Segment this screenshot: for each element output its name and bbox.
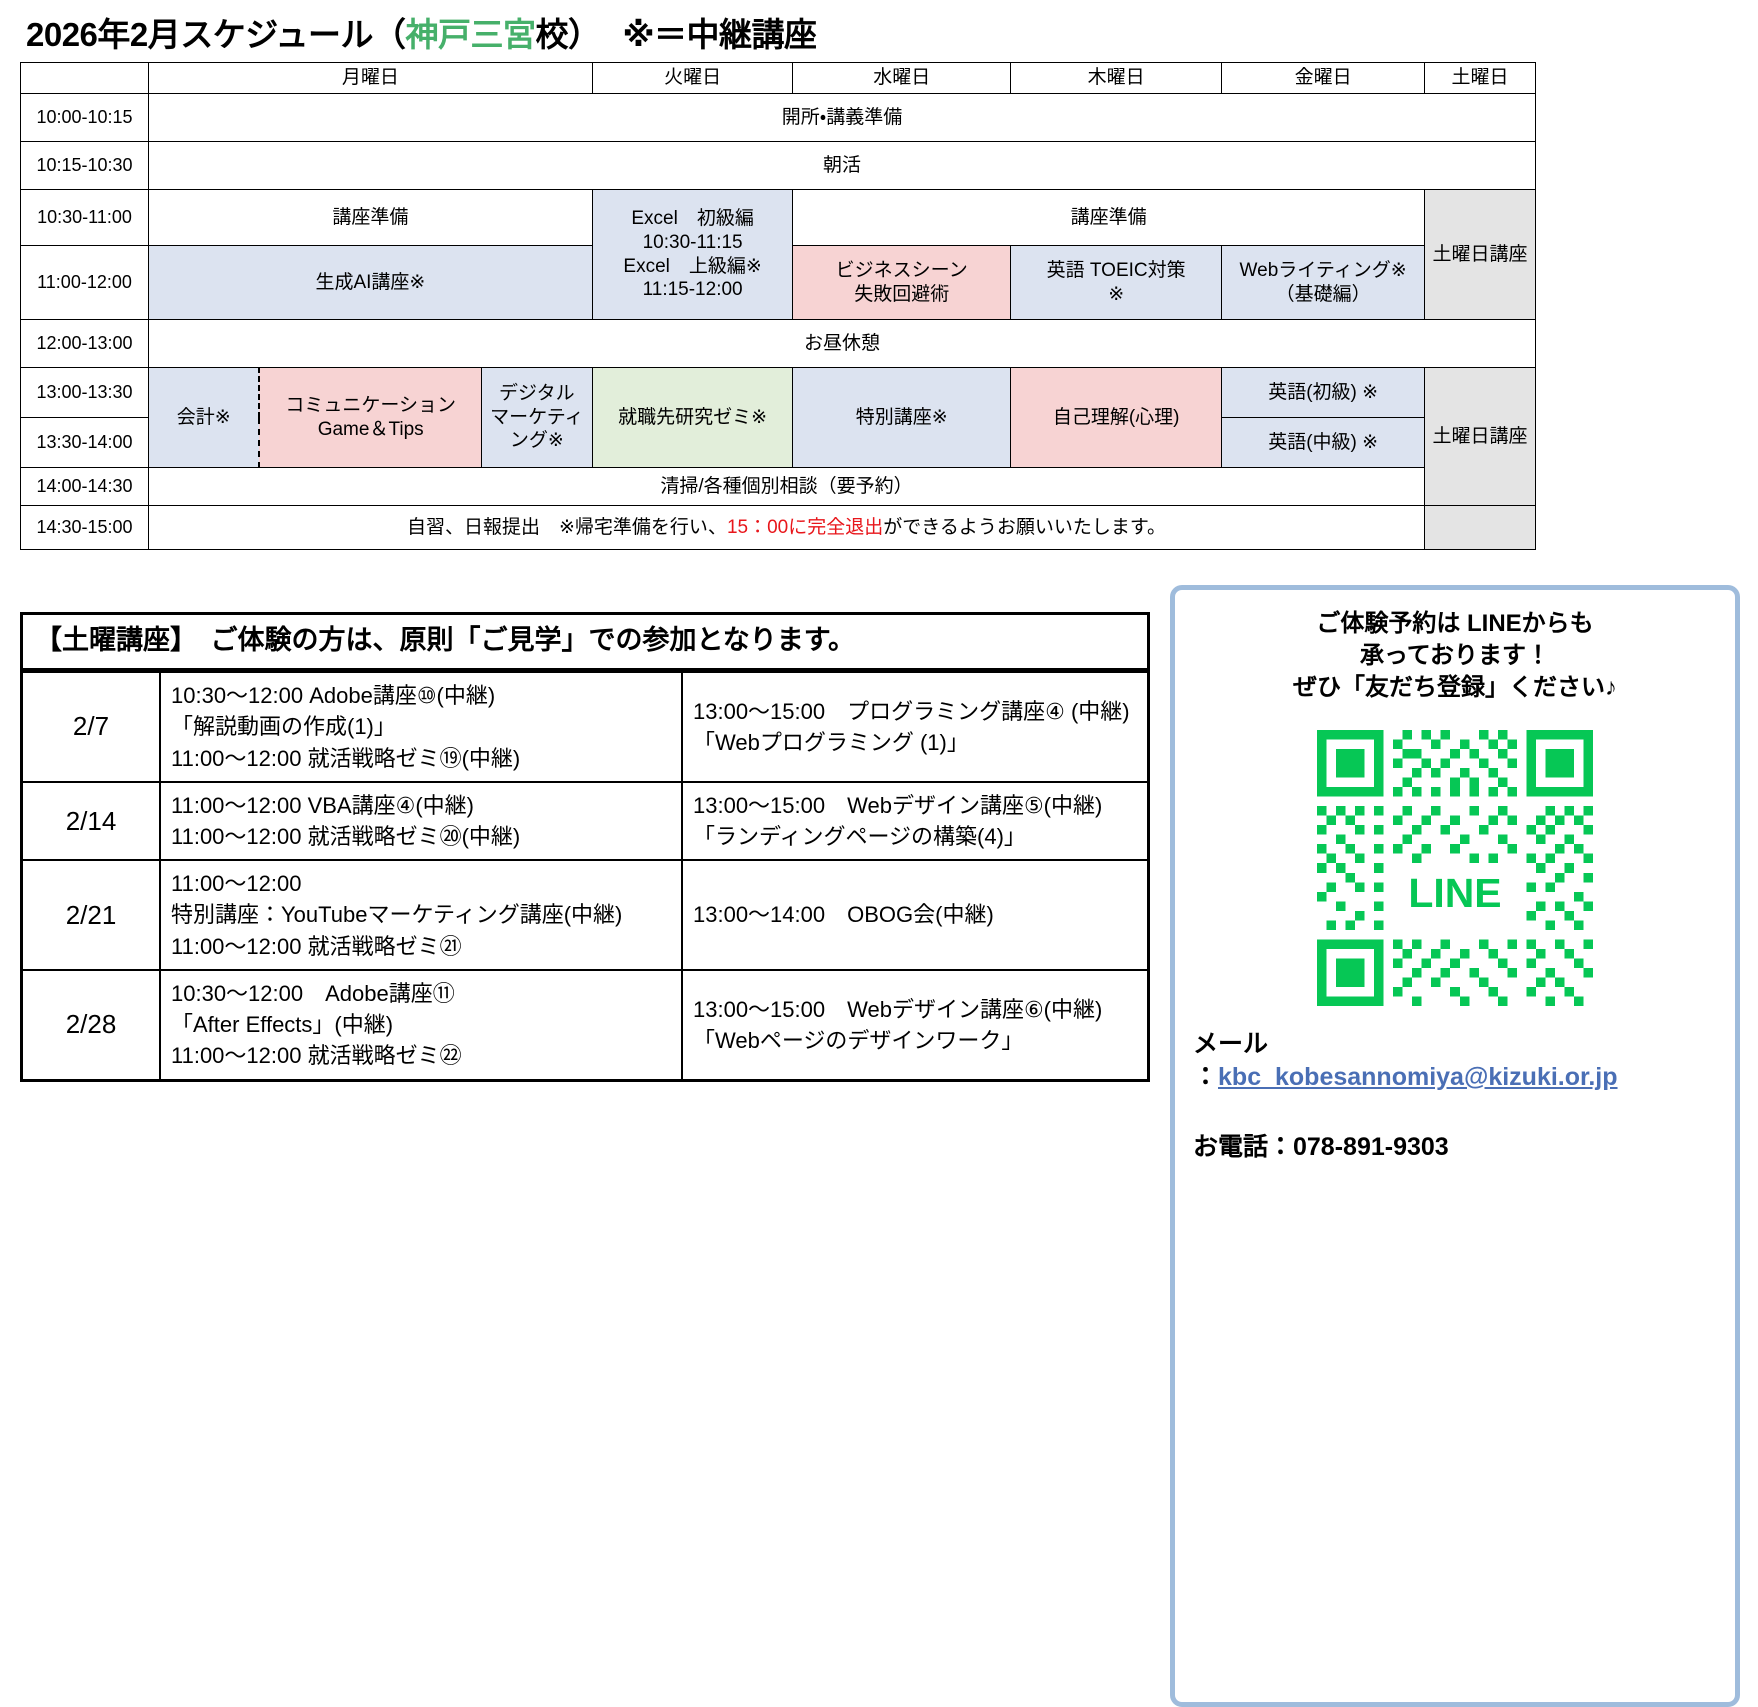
time-1030-1100: 10:30-11:00 — [21, 190, 149, 246]
course-line: 「After Effects」(中継) — [171, 1009, 671, 1040]
line-logo-text: LINE — [1408, 870, 1501, 916]
self-study-text-b: ができるようお願いいたします。 — [883, 517, 1166, 538]
mail-address-link[interactable]: kbc_kobesannomiya@kizuki.or.jp — [1218, 1063, 1618, 1091]
line-heading-line3: ぜひ「友だち登録」ください♪ — [1193, 672, 1717, 704]
time-1430-1500: 14:30-15:00 — [21, 506, 149, 550]
course-line: 11:00〜12:00 — [171, 868, 671, 899]
header-tuesday: 火曜日 — [592, 63, 793, 94]
saturday-afternoon-cell: 13:00〜14:00 OBOG会(中継) — [682, 860, 1147, 970]
table-row: 12:00-13:00 お昼休憩 — [21, 320, 1536, 368]
cell-english-intermediate: 英語(中級) ※ — [1222, 418, 1425, 468]
course-line: 13:00〜14:00 OBOG会(中継) — [693, 899, 1137, 930]
mail-colon: ： — [1193, 1063, 1218, 1091]
course-line: 13:00〜15:00 プログラミング講座④ (中継) — [693, 696, 1137, 727]
header-thursday: 木曜日 — [1011, 63, 1222, 94]
business-scene-line1: ビジネスシーン — [795, 259, 1008, 283]
table-row: 2/28 10:30〜12:00 Adobe講座⑪ 「After Effects… — [23, 970, 1147, 1079]
cell-self-understanding: 自己理解(心理) — [1011, 368, 1222, 468]
cell-self-study-notice: 自習、日報提出 ※帰宅準備を行い、15：00に完全退出ができるようお願いいたしま… — [149, 506, 1425, 550]
cell-lecture-prep-mon: 講座準備 — [149, 190, 593, 246]
course-line: 11:00〜12:00 就活戦略ゼミ㉒ — [171, 1040, 671, 1071]
page-title: 2026年2月スケジュール（神戸三宮校）※＝中継講座 — [26, 8, 817, 56]
toeic-line2: ※ — [1013, 283, 1219, 307]
course-line: 11:00〜12:00 就活戦略ゼミ⑳(中継) — [171, 821, 671, 852]
saturday-afternoon-cell: 13:00〜15:00 プログラミング講座④ (中継) 「Webプログラミング … — [682, 672, 1147, 782]
digital-marketing-line2: マーケティング※ — [484, 406, 590, 454]
cell-saturday-course-am: 土曜日講座 — [1424, 190, 1535, 320]
excel-advanced-time: 11:15-12:00 — [595, 278, 791, 302]
web-writing-line1: Webライティング※ — [1224, 259, 1422, 283]
line-panel-heading: ご体験予約は LINEからも 承っております！ ぜひ「友だち登録」ください♪ — [1193, 608, 1717, 704]
course-line: 11:00〜12:00 就活戦略ゼミ⑲(中継) — [171, 743, 671, 774]
saturday-date: 2/14 — [23, 782, 160, 860]
table-row: 13:00-13:30 会計※ コミュニケーション Game＆Tips デジタル… — [21, 368, 1536, 418]
self-study-text-a: 自習、日報提出 ※帰宅準備を行い、 — [407, 517, 727, 538]
page-title-school: 神戸三宮 — [405, 16, 535, 53]
course-line: 「Webページのデザインワーク」 — [693, 1025, 1137, 1056]
table-row: 14:00-14:30 清掃/各種個別相談（要予約） — [21, 468, 1536, 506]
saturday-section-heading: 【土曜講座】 ご体験の方は、原則「ご見学」での参加となります。 — [23, 615, 1147, 671]
page-title-suffix: 校） — [535, 16, 600, 53]
page-title-note: ※＝中継講座 — [622, 16, 816, 53]
time-1300-1330: 13:00-13:30 — [21, 368, 149, 418]
time-1100-1200: 11:00-12:00 — [21, 246, 149, 320]
cell-saturday-course-pm: 土曜日講座 — [1424, 368, 1535, 506]
cell-communication: コミュニケーション Game＆Tips — [259, 368, 481, 468]
course-line: 13:00〜15:00 Webデザイン講座⑥(中継) — [693, 994, 1137, 1025]
communication-line1: コミュニケーション — [262, 394, 478, 418]
table-row: 2/14 11:00〜12:00 VBA講座④(中継) 11:00〜12:00 … — [23, 782, 1147, 860]
line-qr-code-icon[interactable]: LINE — [1317, 730, 1593, 1006]
time-1330-1400: 13:30-14:00 — [21, 418, 149, 468]
header-friday: 金曜日 — [1222, 63, 1425, 94]
cell-excel-course: Excel 初級編 10:30-11:15 Excel 上級編※ 11:15-1… — [592, 190, 793, 320]
course-line: 「解説動画の作成(1)」 — [171, 711, 671, 742]
table-header-row: 月曜日 火曜日 水曜日 木曜日 金曜日 土曜日 — [21, 63, 1536, 94]
mail-label: メール — [1193, 1028, 1717, 1061]
time-1000-1015: 10:00-10:15 — [21, 94, 149, 142]
web-writing-line2: （基礎編） — [1224, 283, 1422, 307]
page-title-prefix: 2026年2月スケジュール（ — [26, 16, 405, 53]
table-row: 10:30-11:00 講座準備 Excel 初級編 10:30-11:15 E… — [21, 190, 1536, 246]
cell-lecture-prep-wed: 講座準備 — [793, 190, 1425, 246]
table-row: 2/21 11:00〜12:00 特別講座：YouTubeマーケティング講座(中… — [23, 860, 1147, 970]
saturday-course-section: 【土曜講座】 ご体験の方は、原則「ご見学」での参加となります。 2/7 10:3… — [20, 612, 1150, 1082]
cell-open-prep: 開所・講義準備 — [149, 94, 1536, 142]
saturday-afternoon-cell: 13:00〜15:00 Webデザイン講座⑥(中継) 「Webページのデザインワ… — [682, 970, 1147, 1079]
saturday-morning-cell: 11:00〜12:00 特別講座：YouTubeマーケティング講座(中継) 11… — [160, 860, 682, 970]
table-row: 2/7 10:30〜12:00 Adobe講座⑩(中継) 「解説動画の作成(1)… — [23, 672, 1147, 782]
cell-web-writing: Webライティング※ （基礎編） — [1222, 246, 1425, 320]
phone-number: お電話：078-891-9303 — [1193, 1127, 1717, 1163]
business-scene-line2: 失敗回避術 — [795, 283, 1008, 307]
course-line: 「Webプログラミング (1)」 — [693, 727, 1137, 758]
header-time — [21, 63, 149, 94]
excel-beginner-label: Excel 初級編 — [595, 207, 791, 231]
saturday-afternoon-cell: 13:00〜15:00 Webデザイン講座⑤(中継) 「ランディングページの構築… — [682, 782, 1147, 860]
course-line: 「ランディングページの構築(4)」 — [693, 821, 1137, 852]
table-row: 10:00-10:15 開所・講義準備 — [21, 94, 1536, 142]
saturday-morning-cell: 10:30〜12:00 Adobe講座⑪ 「After Effects」(中継)… — [160, 970, 682, 1079]
cell-toeic: 英語 TOEIC対策 ※ — [1011, 246, 1222, 320]
saturday-morning-cell: 10:30〜12:00 Adobe講座⑩(中継) 「解説動画の作成(1)」 11… — [160, 672, 682, 782]
course-line: 10:30〜12:00 Adobe講座⑪ — [171, 978, 671, 1009]
cell-business-scene: ビジネスシーン 失敗回避術 — [793, 246, 1011, 320]
time-1015-1030: 10:15-10:30 — [21, 142, 149, 190]
cell-accounting: 会計※ — [149, 368, 260, 468]
communication-line2: Game＆Tips — [262, 418, 478, 442]
line-heading-line2: 承っております！ — [1193, 640, 1717, 672]
cell-digital-marketing: デジタル マーケティング※ — [481, 368, 592, 468]
line-contact-panel: ご体験予約は LINEからも 承っております！ ぜひ「友だち登録」ください♪ — [1170, 585, 1740, 1707]
mail-row: ：kbc_kobesannomiya@kizuki.or.jp — [1193, 1061, 1717, 1094]
cell-lunch-break: お昼休憩 — [149, 320, 1536, 368]
qr-code-wrapper: LINE — [1193, 730, 1717, 1006]
cell-saturday-course-blank — [1424, 506, 1535, 550]
cell-job-research-seminar: 就職先研究ゼミ※ — [592, 368, 793, 468]
cell-cleaning-consultation: 清掃/各種個別相談（要予約） — [149, 468, 1425, 506]
cell-morning-activity: 朝活 — [149, 142, 1536, 190]
excel-beginner-time: 10:30-11:15 — [595, 231, 791, 255]
table-row: 10:15-10:30 朝活 — [21, 142, 1536, 190]
mail-contact-block: メール ：kbc_kobesannomiya@kizuki.or.jp — [1193, 1028, 1717, 1093]
table-row: 14:30-15:00 自習、日報提出 ※帰宅準備を行い、15：00に完全退出が… — [21, 506, 1536, 550]
header-wednesday: 水曜日 — [793, 63, 1011, 94]
time-1400-1430: 14:00-14:30 — [21, 468, 149, 506]
saturday-morning-cell: 11:00〜12:00 VBA講座④(中継) 11:00〜12:00 就活戦略ゼ… — [160, 782, 682, 860]
toeic-line1: 英語 TOEIC対策 — [1013, 259, 1219, 283]
course-line: 11:00〜12:00 VBA講座④(中継) — [171, 790, 671, 821]
self-study-text-red: 15：00に完全退出 — [727, 517, 883, 538]
course-line: 10:30〜12:00 Adobe講座⑩(中継) — [171, 680, 671, 711]
saturday-date: 2/28 — [23, 970, 160, 1079]
cell-special-course: 特別講座※ — [793, 368, 1011, 468]
saturday-date: 2/7 — [23, 672, 160, 782]
course-line: 11:00〜12:00 就活戦略ゼミ㉑ — [171, 931, 671, 962]
digital-marketing-line1: デジタル — [484, 382, 590, 406]
excel-advanced-label: Excel 上級編※ — [595, 255, 791, 279]
course-line: 特別講座：YouTubeマーケティング講座(中継) — [171, 899, 671, 930]
course-line: 13:00〜15:00 Webデザイン講座⑤(中継) — [693, 790, 1137, 821]
header-monday: 月曜日 — [149, 63, 593, 94]
saturday-course-table: 2/7 10:30〜12:00 Adobe講座⑩(中継) 「解説動画の作成(1)… — [23, 671, 1147, 1079]
weekly-schedule-table: 月曜日 火曜日 水曜日 木曜日 金曜日 土曜日 10:00-10:15 開所・講… — [20, 62, 1536, 550]
saturday-date: 2/21 — [23, 860, 160, 970]
cell-generative-ai: 生成AI講座※ — [149, 246, 593, 320]
header-saturday: 土曜日 — [1424, 63, 1535, 94]
cell-english-beginner: 英語(初級) ※ — [1222, 368, 1425, 418]
time-1200-1300: 12:00-13:00 — [21, 320, 149, 368]
line-heading-line1: ご体験予約は LINEからも — [1193, 608, 1717, 640]
